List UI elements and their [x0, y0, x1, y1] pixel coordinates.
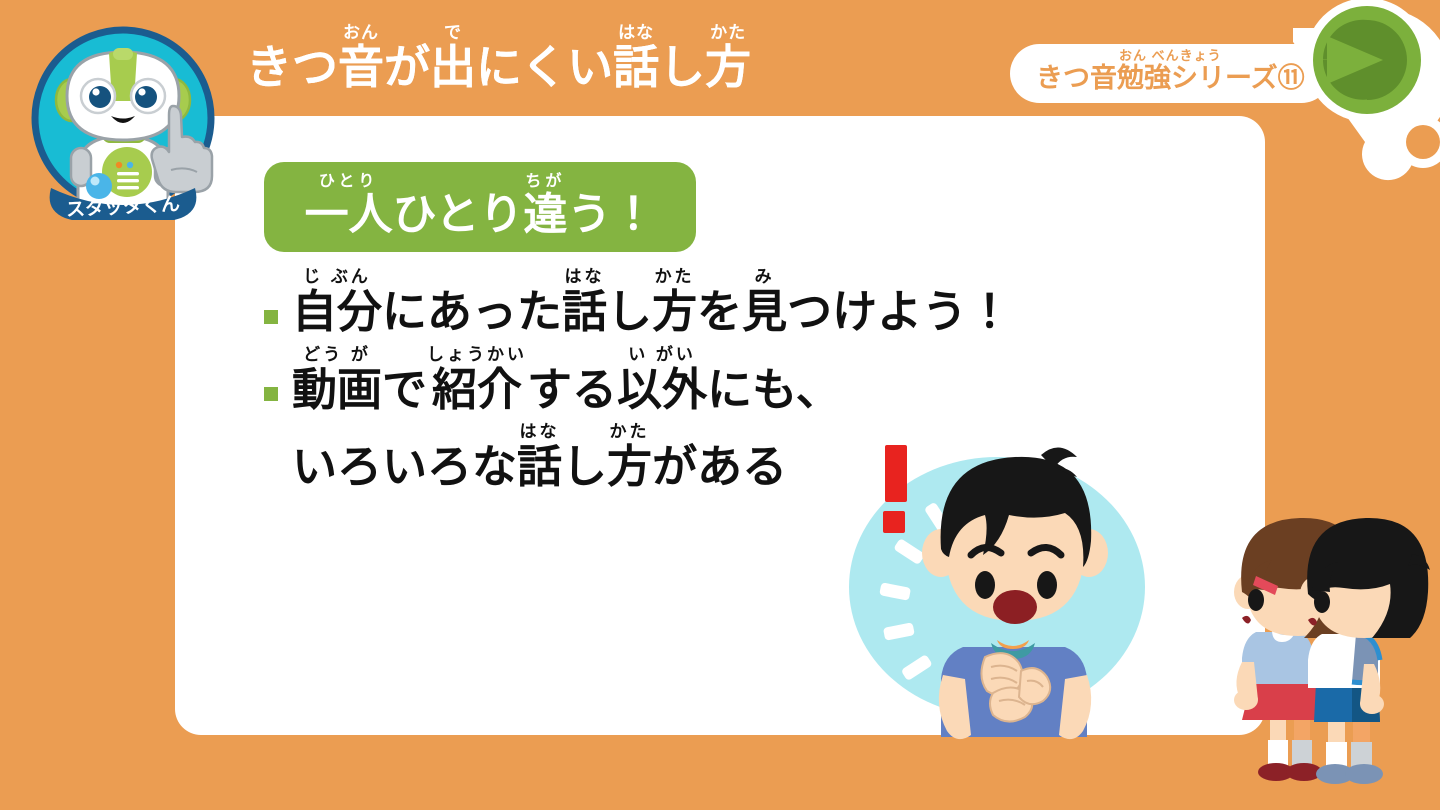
bullet-segment: し: [607, 268, 652, 336]
bullet-segment: しょうかい紹介: [427, 346, 527, 414]
title-base: 音: [338, 43, 384, 93]
bullet-segment: はな話: [562, 268, 607, 336]
bullet-base: 話: [517, 443, 562, 491]
bullet-segment: じ ぶん自分: [292, 268, 382, 336]
title-base: 出: [430, 43, 476, 93]
slide-root: スタッタくん きつおん音 がで出 にくいはな話 しかた方 おん べんきょう きつ…: [0, 0, 1440, 810]
bullet-ruby: どう が: [303, 346, 371, 366]
bullet-segment: かた方: [607, 423, 652, 491]
bullet-base: を: [697, 288, 742, 336]
bullet-segment: し: [562, 423, 607, 491]
bullet-base: 方: [652, 288, 697, 336]
bullet-base: 以外: [617, 366, 707, 414]
bullet-text: いろいろなはな話 しかた方 がある: [292, 423, 787, 491]
bullet-base: で: [382, 366, 427, 414]
boy-watching: [1300, 518, 1430, 784]
bullet-ruby: かた: [655, 268, 695, 288]
series-badge: おん べんきょう きつ音勉強シリーズ⑪: [1010, 44, 1331, 103]
heading-base: 違: [523, 192, 567, 238]
title-base: きつ: [246, 43, 338, 93]
bullet-base: にも、: [707, 366, 841, 414]
exclamation-mark: [883, 445, 907, 533]
bullet-square-icon: [264, 310, 278, 324]
bullet-segment: どう が動画: [292, 346, 382, 414]
title-segment: おん音: [338, 24, 384, 93]
bullet-segment: で: [382, 346, 427, 414]
bullet-segment: を: [697, 268, 742, 336]
title-segment: で出: [430, 24, 476, 93]
bullet-base: 自分: [292, 288, 382, 336]
bullet-base: し: [562, 443, 607, 491]
title-base: 話: [613, 43, 659, 93]
bullet-base: 見: [742, 288, 787, 336]
bullet-segment: にも、: [707, 346, 841, 414]
illustration-onlookers: [1160, 492, 1440, 810]
heading-base: う！: [567, 192, 655, 238]
title-segment: きつ: [246, 24, 338, 93]
bullet-item: どう が動画 でしょうかい紹介 するい がい以外 にも、: [264, 346, 1164, 414]
bullet-segment: み見: [742, 268, 787, 336]
bullet-base: つけよう！: [787, 288, 1012, 336]
section-heading-pill: ひとり一人 ひとりちが違 う！: [264, 162, 696, 252]
bullet-segment: い がい以外: [617, 346, 707, 414]
heading-segment: う！: [567, 174, 655, 238]
bullet-ruby: み: [755, 268, 775, 288]
bullet-ruby: い がい: [628, 346, 696, 366]
heading-base: 一人: [305, 192, 393, 238]
title-base: し: [659, 43, 705, 93]
bullet-text: どう が動画 でしょうかい紹介 するい がい以外 にも、: [292, 346, 841, 414]
title-base: 方: [705, 43, 751, 93]
bullet-segment: する: [527, 346, 617, 414]
series-badge-ruby: おん べんきょう: [1119, 49, 1222, 64]
title-segment: はな話: [613, 24, 659, 93]
bullet-base: にあった: [382, 288, 562, 336]
bullet-ruby: はな: [520, 423, 560, 443]
bullet-segment: かた方: [652, 268, 697, 336]
heading-segment: ひとり一人: [305, 174, 393, 238]
green-play-circle-logo-icon[interactable]: [1293, 0, 1440, 182]
bullet-text: じ ぶん自分 にあったはな話 しかた方 をみ見 つけよう！: [292, 268, 1012, 336]
mascot-avatar: スタッタくん: [23, 20, 223, 220]
bullet-segment: はな話: [517, 423, 562, 491]
bullet-base: 話: [562, 288, 607, 336]
illustration-boy-speaking: [845, 425, 1195, 755]
bullet-segment: いろいろな: [292, 423, 517, 491]
bullet-segment: がある: [652, 423, 787, 491]
title-segment: し: [659, 24, 705, 93]
title-base: が: [384, 43, 430, 93]
heading-base: ひとり: [393, 192, 524, 238]
bullet-base: いろいろな: [292, 443, 517, 491]
title-segment: かた方: [705, 24, 751, 93]
title-segment: にくい: [476, 24, 613, 93]
page-title: きつおん音 がで出 にくいはな話 しかた方: [246, 24, 751, 93]
bullet-ruby: しょうかい: [427, 346, 527, 366]
bullet-base: がある: [652, 443, 787, 491]
bullet-base: する: [527, 366, 617, 414]
bullet-segment: つけよう！: [787, 268, 1012, 336]
heading-segment: ちが違: [523, 174, 567, 238]
bullet-segment: にあった: [382, 268, 562, 336]
bullet-base: 紹介: [432, 366, 522, 414]
bullet-item: じ ぶん自分 にあったはな話 しかた方 をみ見 つけよう！: [264, 268, 1164, 336]
bullet-ruby: かた: [610, 423, 650, 443]
title-base: にくい: [476, 43, 613, 93]
bullet-ruby: じ ぶん: [303, 268, 371, 288]
series-badge-label: きつ音勉強シリーズ⑪: [1036, 64, 1305, 94]
bullet-ruby: はな: [565, 268, 605, 288]
heading-segment: ひとり: [393, 174, 524, 238]
bullet-base: 動画: [292, 366, 382, 414]
bullet-square-icon: [264, 387, 278, 401]
bullet-base: 方: [607, 443, 652, 491]
title-segment: が: [384, 24, 430, 93]
bullet-base: し: [607, 288, 652, 336]
